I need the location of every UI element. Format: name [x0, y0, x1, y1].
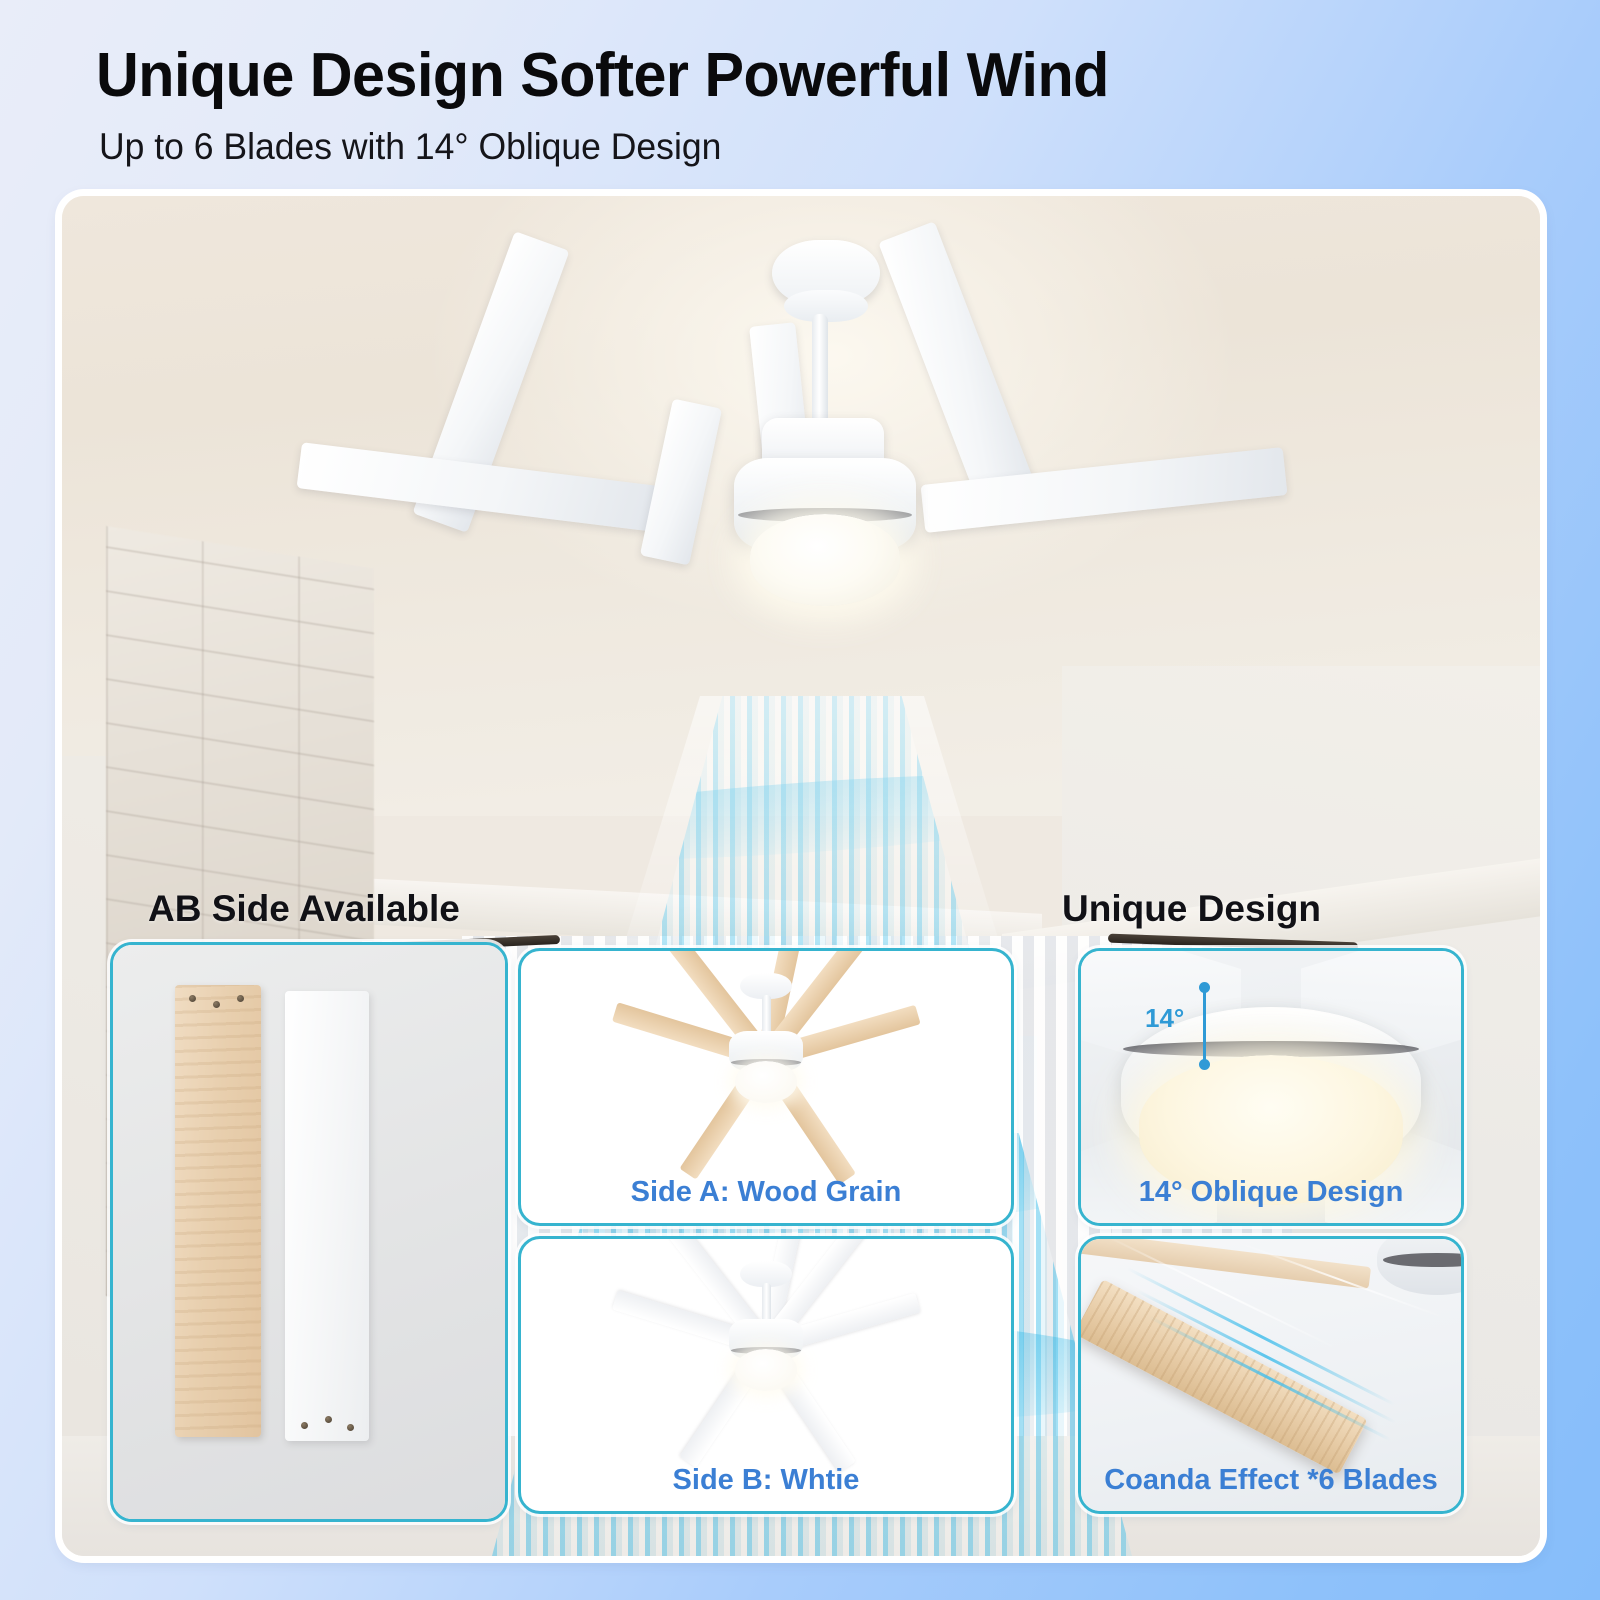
fan-downrod [812, 314, 828, 424]
screw-hole [301, 1422, 308, 1429]
card-caption-oblique: 14° Oblique Design [1081, 1176, 1461, 1209]
page-subtitle: Up to 6 Blades with 14° Oblique Design [99, 126, 721, 168]
dimension-endpoint-dot [1199, 982, 1210, 993]
card-caption-side-a: Side A: Wood Grain [521, 1176, 1011, 1209]
card-oblique-design[interactable]: 14° 14° Oblique Design [1078, 948, 1464, 1226]
fan-blade-closeup [1078, 1279, 1368, 1475]
angle-annotation: 14° [1145, 1003, 1184, 1034]
blade-panel-wood-grain [175, 985, 261, 1437]
card-caption-coanda: Coanda Effect *6 Blades [1081, 1464, 1461, 1497]
ceiling-fan [62, 196, 1540, 896]
fan-light [735, 1061, 797, 1103]
page-title: Unique Design Softer Powerful Wind [96, 40, 1109, 111]
mini-fan-wood [521, 955, 1011, 1161]
card-ab-side[interactable] [110, 942, 508, 1522]
card-side-b[interactable]: Side B: Whtie [518, 1236, 1014, 1514]
hero-photo: AB Side Available Unique Design [62, 196, 1540, 1556]
screw-hole [325, 1416, 332, 1423]
mini-fan-white [521, 1243, 1011, 1449]
section-label-ab-side: AB Side Available [148, 888, 460, 930]
fan-light [735, 1349, 797, 1391]
header: Unique Design Softer Powerful Wind Up to… [0, 0, 1600, 196]
card-caption-side-b: Side B: Whtie [521, 1464, 1011, 1497]
card-coanda-effect[interactable]: Coanda Effect *6 Blades [1078, 1236, 1464, 1514]
card-side-a[interactable]: Side A: Wood Grain [518, 948, 1014, 1226]
screw-hole [347, 1424, 354, 1431]
fan-light [750, 514, 900, 606]
screw-hole [237, 995, 244, 1002]
angle-dimension-line [1203, 987, 1206, 1065]
fan-blade [640, 399, 722, 566]
blade-panel-white [285, 991, 369, 1441]
screw-hole [189, 995, 196, 1002]
dimension-endpoint-dot [1199, 1059, 1210, 1070]
section-label-unique-design: Unique Design [1062, 888, 1321, 930]
screw-hole [213, 1001, 220, 1008]
